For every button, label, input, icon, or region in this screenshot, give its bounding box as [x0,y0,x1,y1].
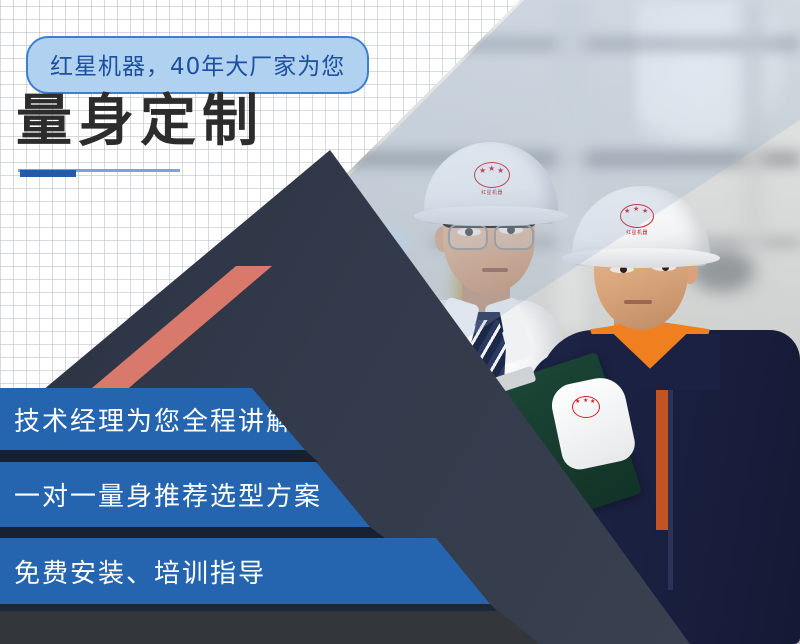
hardhat-logo-technician: ★ ★ ★ 红星机器 [620,204,654,228]
technician-hardhat-brim [562,248,720,268]
promo-banner: ★ ★ ★ 红星机器 [0,0,800,644]
feature-label-2: 一对一量身推荐选型方案 [0,476,322,513]
bottom-dark-band-edge [0,604,560,611]
hall-beam-mid [300,150,800,168]
feature-bar-1: 技术经理为您全程讲解 [0,388,305,450]
hardhat-logo-caption: 红星机器 [474,189,510,196]
feature-divider-1 [0,450,318,462]
hall-column-right [742,0,764,300]
hall-column-left [556,0,586,330]
feature-label-1: 技术经理为您全程讲解 [0,401,294,438]
feature-bar-3: 免费安装、培训指导 [0,538,490,604]
feature-divider-2 [0,527,385,538]
technician-mouth [624,300,652,304]
feature-bar-2: 一对一量身推荐选型方案 [0,462,370,527]
hardhat-logo-caption-2: 红星机器 [620,229,654,236]
hardhat-logo-engineer: ★ ★ ★ 红星机器 [474,162,510,188]
feature-label-3: 免费安装、培训指导 [0,553,266,590]
engineer-hardhat-brim [414,206,568,226]
glove-logo: ★ ★ ★ [572,396,600,418]
page-title: 量身定制 [16,94,264,150]
engineer-mouth [482,268,508,272]
headline-underline-dark [20,170,76,177]
tagline-badge: 红星机器，40年大厂家为您 [26,36,369,94]
